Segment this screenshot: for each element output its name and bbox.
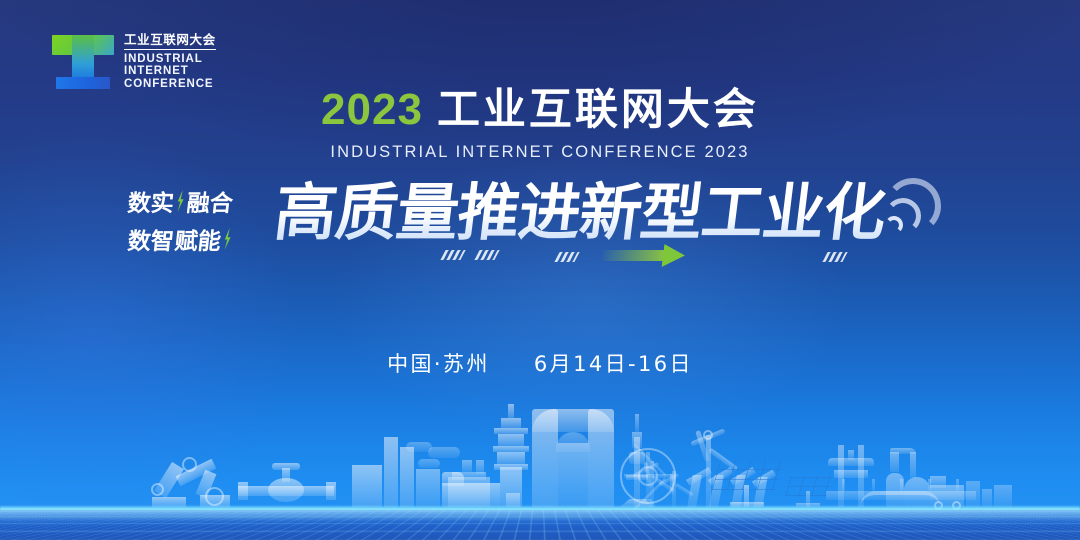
- slogan-secondary-line-1-part-b: 融合: [185, 184, 235, 218]
- speed-slash-decor: [554, 252, 579, 262]
- lightning-bolt-icon: [175, 190, 186, 212]
- slogan-secondary-line-2: 数智 赋能: [126, 222, 280, 256]
- slogan-inner: 数实 融合 数智 赋能 高质量推进新型工业化: [125, 176, 955, 286]
- slogan-main-line: 高质量推进新型工业化: [271, 176, 890, 249]
- logo-english-name: INDUSTRIAL INTERNET CONFERENCE: [124, 54, 216, 91]
- slogan-secondary-line-2-part-b: 赋能: [173, 222, 223, 256]
- speed-slash-decor: [440, 250, 465, 260]
- speed-slash-decor: [822, 252, 847, 262]
- perspective-grid-ground: [0, 510, 1080, 540]
- logo-english-line-1: INDUSTRIAL: [124, 54, 216, 66]
- slogan-secondary-line-1-part-a: 数实: [126, 184, 176, 218]
- logo[interactable]: 工业互联网大会 INDUSTRIAL INTERNET CONFERENCE: [52, 28, 216, 94]
- slogan-secondary-line-1: 数实 融合: [126, 184, 280, 218]
- green-right-arrow-icon: [602, 244, 691, 266]
- dateline: 中国·苏州 6月14日-16日: [0, 348, 1080, 378]
- slogan-secondary-line-2-part-a: 数智: [126, 222, 176, 256]
- headline-block: 2023 工业互联网大会 INDUSTRIAL INTERNET CONFERE…: [0, 88, 1080, 162]
- skyline-illustration: [0, 390, 1080, 540]
- headline-chinese-title: 工业互联网大会: [437, 89, 759, 132]
- slogan-block: 数实 融合 数智 赋能 高质量推进新型工业化: [0, 176, 1080, 286]
- headline-year: 2023: [321, 88, 423, 132]
- dateline-location: 中国·苏州: [387, 352, 490, 376]
- arrow-shaft: [602, 250, 667, 261]
- dateline-dates: 6月14日-16日: [534, 352, 693, 376]
- speed-slash-decor: [474, 250, 499, 260]
- wifi-signal-arcs-icon: [885, 164, 963, 234]
- conference-poster: 工业互联网大会 INDUSTRIAL INTERNET CONFERENCE 2…: [0, 0, 1080, 540]
- industrial-internet-conference-logo-mark: [52, 28, 114, 94]
- logo-text-block: 工业互联网大会 INDUSTRIAL INTERNET CONFERENCE: [124, 32, 216, 90]
- lightning-bolt-icon: [222, 228, 233, 250]
- logo-chinese-name: 工业互联网大会: [124, 34, 216, 50]
- logo-english-line-2: INTERNET: [124, 66, 216, 78]
- headline-english-title: INDUSTRIAL INTERNET CONFERENCE 2023: [0, 143, 1080, 162]
- ground-sheen: [0, 510, 1080, 522]
- slogan-secondary-lines: 数实 融合 数智 赋能: [128, 184, 278, 256]
- arrow-head: [662, 244, 687, 267]
- headline-row: 2023 工业互联网大会: [0, 88, 1080, 132]
